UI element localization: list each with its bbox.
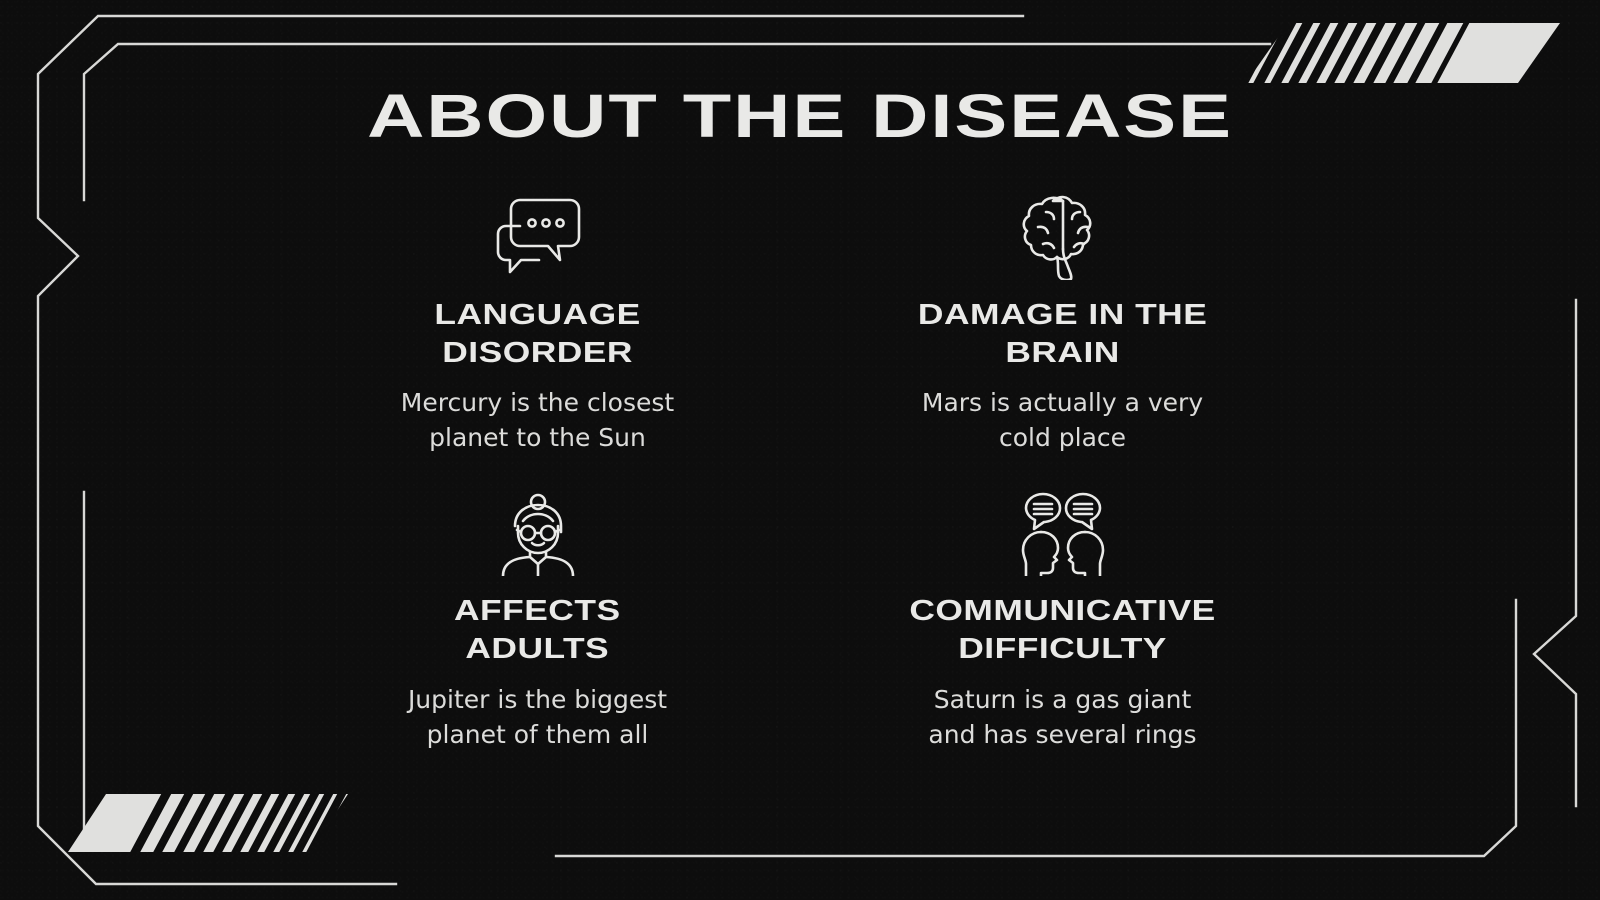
feature-card-body: Mercury is the closest planet to the Sun — [401, 385, 674, 455]
feature-card-title: AFFECTS ADULTS — [454, 593, 621, 668]
elderly-person-icon — [495, 487, 581, 579]
feature-card-title: DAMAGE IN THE BRAIN — [918, 297, 1207, 372]
feature-card-body: Jupiter is the biggest planet of them al… — [408, 682, 667, 752]
feature-card-affects-adults: AFFECTS ADULTS Jupiter is the biggest pl… — [290, 487, 785, 751]
feature-card-body: Saturn is a gas giant and has several ri… — [928, 682, 1196, 752]
feature-card-title: LANGUAGE DISORDER — [434, 297, 640, 372]
feature-card-title: COMMUNICATIVE DIFFICULTY — [909, 593, 1215, 668]
feature-card-brain-damage: DAMAGE IN THE BRAIN Mars is actually a v… — [815, 191, 1310, 455]
page-title: ABOUT THE DISEASE — [367, 86, 1233, 147]
feature-card-communicative-difficulty: COMMUNICATIVE DIFFICULTY Saturn is a gas… — [815, 487, 1310, 751]
brain-icon — [1018, 191, 1108, 283]
slide-content: ABOUT THE DISEASE LANGUAGE DISORDER — [0, 0, 1600, 900]
speech-bubbles-icon — [490, 191, 586, 283]
feature-card-body: Mars is actually a very cold place — [922, 385, 1203, 455]
feature-grid: LANGUAGE DISORDER Mercury is the closest… — [290, 191, 1310, 752]
two-people-talking-icon — [1013, 487, 1113, 579]
feature-card-language-disorder: LANGUAGE DISORDER Mercury is the closest… — [290, 191, 785, 455]
slide-canvas: ABOUT THE DISEASE LANGUAGE DISORDER — [0, 0, 1600, 900]
